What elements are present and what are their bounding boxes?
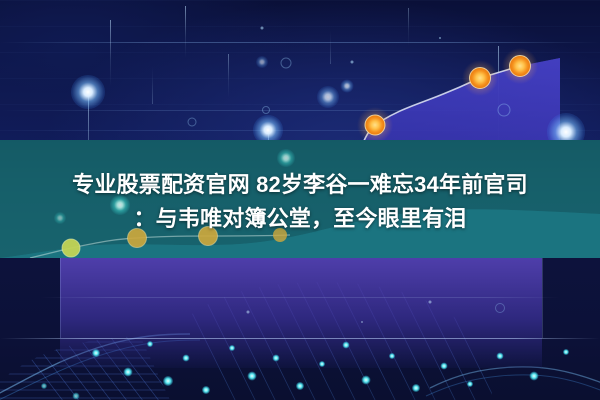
headline-line-2: ：与韦唯对簿公堂，至今眼里有泪 bbox=[0, 202, 600, 236]
particle-dot bbox=[124, 368, 133, 377]
particle-dot bbox=[412, 384, 420, 392]
particle-dot bbox=[163, 376, 173, 386]
headline-line-1: 专业股票配资官网 82岁李谷一难忘34年前官司 bbox=[72, 172, 528, 197]
ring-accent bbox=[495, 303, 505, 313]
particle-dot bbox=[296, 382, 304, 390]
particle-dot bbox=[319, 361, 325, 367]
ring-accent bbox=[498, 104, 511, 117]
ring-accent bbox=[262, 106, 270, 114]
particle-dot bbox=[248, 372, 257, 381]
particle-dot bbox=[530, 372, 539, 381]
particle-dot bbox=[497, 353, 504, 360]
particle-dot bbox=[147, 341, 153, 347]
micro-dot bbox=[247, 311, 250, 314]
panel-edge bbox=[60, 258, 61, 338]
particle-dot bbox=[362, 376, 371, 385]
stage-panel bbox=[60, 258, 542, 368]
particle-dot bbox=[73, 393, 80, 400]
micro-dot bbox=[429, 301, 432, 304]
particle-dot bbox=[183, 355, 190, 362]
ring-accent bbox=[281, 58, 292, 69]
micro-dot bbox=[439, 37, 441, 39]
particle-dot bbox=[202, 386, 210, 394]
stage-mid-line bbox=[40, 297, 560, 298]
micro-dot bbox=[261, 27, 264, 30]
particle-dot bbox=[441, 363, 448, 370]
particle-dot bbox=[41, 383, 47, 389]
particle-dot bbox=[389, 353, 395, 359]
panel-edge bbox=[542, 258, 543, 338]
stage-floor-line bbox=[0, 338, 600, 339]
particle-dot bbox=[343, 342, 350, 349]
particle-dot bbox=[273, 355, 280, 362]
particle-dot bbox=[229, 345, 235, 351]
thumbnail-canvas: 专业股票配资官网 82岁李谷一难忘34年前官司 ：与韦唯对簿公堂，至今眼里有泪 bbox=[0, 0, 600, 400]
particle-dot bbox=[563, 349, 569, 355]
particle-dot bbox=[467, 381, 473, 387]
particle-dot bbox=[92, 349, 100, 357]
page-title: 专业股票配资官网 82岁李谷一难忘34年前官司 ：与韦唯对簿公堂，至今眼里有泪 bbox=[0, 168, 600, 236]
micro-dot bbox=[351, 61, 354, 64]
ring-accent bbox=[188, 118, 197, 127]
micro-dot bbox=[361, 321, 363, 323]
